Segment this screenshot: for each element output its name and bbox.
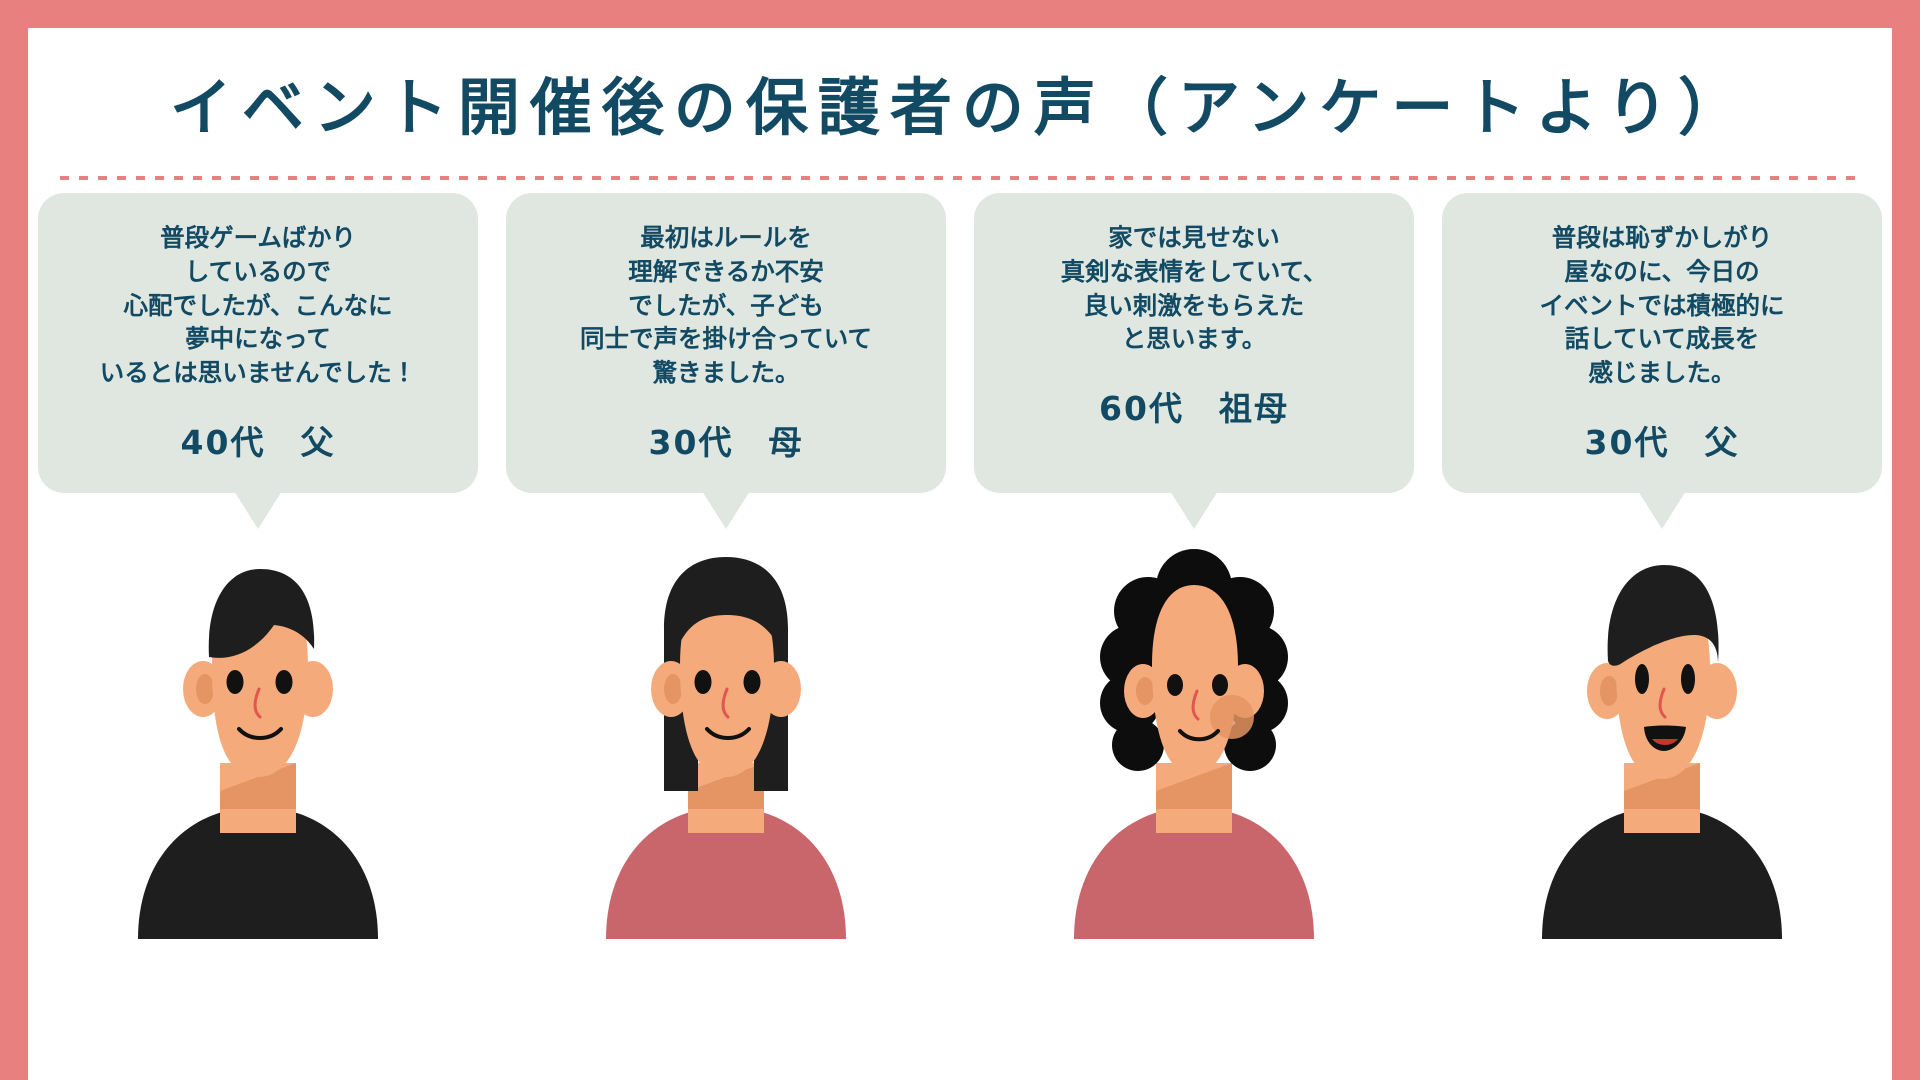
bubble-tail-icon [702,491,750,529]
testimonial-text: 普段は恥ずかしがり 屋なのに、今日の イベントでは積極的に 話していて成長を 感… [1540,221,1785,390]
respondent-label: 40代 父 [181,416,336,464]
speech-bubble-2: 最初はルールを 理解できるか不安 でしたが、子ども 同士で声を掛け合っていて 驚… [506,193,946,493]
testimonial-column-3: 家では見せない 真剣な表情をしていて、 良い刺激をもらえた と思います。 60代… [974,193,1414,1080]
dotted-divider [60,176,1860,180]
speech-bubble-1: 普段ゲームばかり しているので 心配でしたが、こんなに 夢中になって いるとは思… [38,193,478,493]
bubble-tail-icon [234,491,282,529]
father-40s-avatar [108,539,408,939]
page-title: イベント開催後の保護者の声（アンケートより） [170,57,1750,147]
mother-30s-avatar [576,539,876,939]
testimonial-columns: 普段ゲームばかり しているので 心配でしたが、こんなに 夢中になって いるとは思… [28,193,1892,1080]
testimonial-text: 最初はルールを 理解できるか不安 でしたが、子ども 同士で声を掛け合っていて 驚… [580,221,872,390]
grandmother-60s-avatar [1044,539,1344,939]
father-30s-avatar [1512,539,1812,939]
respondent-label: 30代 父 [1585,416,1740,464]
testimonial-column-1: 普段ゲームばかり しているので 心配でしたが、こんなに 夢中になって いるとは思… [38,193,478,1080]
testimonial-text: 家では見せない 真剣な表情をしていて、 良い刺激をもらえた と思います。 [1061,221,1328,356]
bubble-tail-icon [1170,491,1218,529]
speech-bubble-3: 家では見せない 真剣な表情をしていて、 良い刺激をもらえた と思います。 60代… [974,193,1414,493]
title-area: イベント開催後の保護者の声（アンケートより） [28,28,1892,176]
slide-canvas: イベント開催後の保護者の声（アンケートより） 普段ゲームばかり しているので 心… [28,28,1892,1080]
testimonial-column-2: 最初はルールを 理解できるか不安 でしたが、子ども 同士で声を掛け合っていて 驚… [506,193,946,1080]
respondent-label: 60代 祖母 [1099,382,1289,430]
testimonial-text: 普段ゲームばかり しているので 心配でしたが、こんなに 夢中になって いるとは思… [100,221,417,390]
bubble-tail-icon [1638,491,1686,529]
respondent-label: 30代 母 [649,416,804,464]
testimonial-column-4: 普段は恥ずかしがり 屋なのに、今日の イベントでは積極的に 話していて成長を 感… [1442,193,1882,1080]
speech-bubble-4: 普段は恥ずかしがり 屋なのに、今日の イベントでは積極的に 話していて成長を 感… [1442,193,1882,493]
